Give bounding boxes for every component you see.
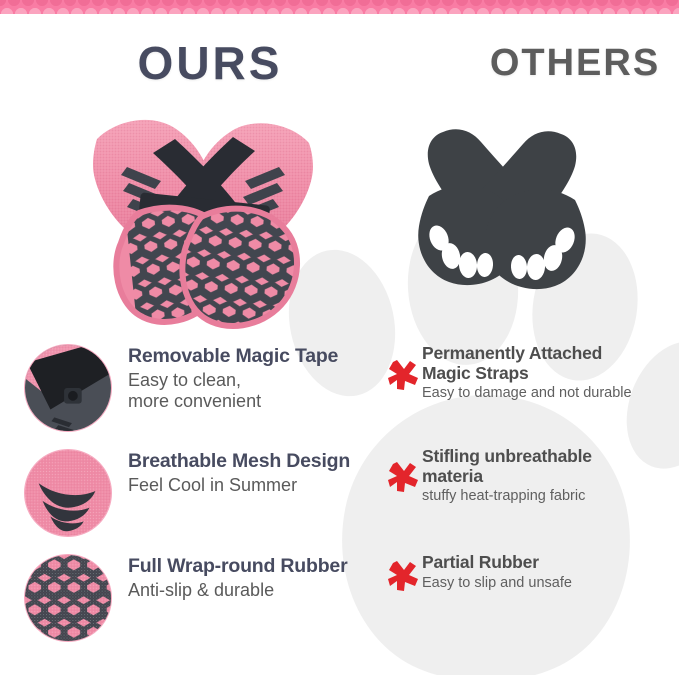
ours-feature-title: Breathable Mesh Design [128, 451, 390, 472]
others-feature-subtitle: Easy to damage and not durable [422, 385, 679, 402]
others-feature-subtitle: stuffy heat-trapping fabric [422, 488, 679, 505]
x-mark-icon [388, 561, 418, 591]
ours-feature-text: Full Wrap-round Rubber Anti-slip & durab… [128, 556, 390, 601]
ours-feature-subtitle: Feel Cool in Summer [128, 475, 390, 496]
others-feature-title: Partial Rubber [422, 553, 679, 573]
top-pink-band [0, 0, 679, 14]
others-feature-text: Permanently Attached Magic Straps Easy t… [422, 344, 679, 402]
hero-image-ours [83, 95, 323, 335]
ours-feature-text: Removable Magic Tape Easy to clean, more… [128, 346, 390, 411]
ours-feature-title: Full Wrap-round Rubber [128, 556, 390, 577]
hero-image-others [405, 120, 600, 295]
sole-right [178, 202, 300, 333]
ours-feature-subtitle: Easy to clean, more convenient [128, 370, 390, 411]
page-title-others: OTHERS [355, 42, 679, 85]
others-feature-subtitle: Easy to slip and unsafe [422, 575, 679, 592]
thumbnail-velcro-strap [24, 344, 112, 432]
ours-feature-title: Removable Magic Tape [128, 346, 390, 367]
ours-feature-text: Breathable Mesh Design Feel Cool in Summ… [128, 451, 390, 496]
thumbnail-breathable-mesh [24, 449, 112, 537]
others-feature-title: Permanently Attached Magic Straps [422, 344, 679, 383]
ours-feature-subtitle: Anti-slip & durable [128, 580, 390, 601]
x-mark-icon [388, 462, 418, 492]
x-mark-icon [388, 360, 418, 390]
others-feature-title: Stifling unbreathable materia [422, 447, 679, 486]
infographic-canvas: OURS OTHERS [0, 0, 679, 679]
thumbnail-honeycomb-rubber [24, 554, 112, 642]
others-feature-text: Stifling unbreathable materia stuffy hea… [422, 447, 679, 505]
others-feature-text: Partial Rubber Easy to slip and unsafe [422, 553, 679, 591]
band-texture [0, 0, 679, 14]
